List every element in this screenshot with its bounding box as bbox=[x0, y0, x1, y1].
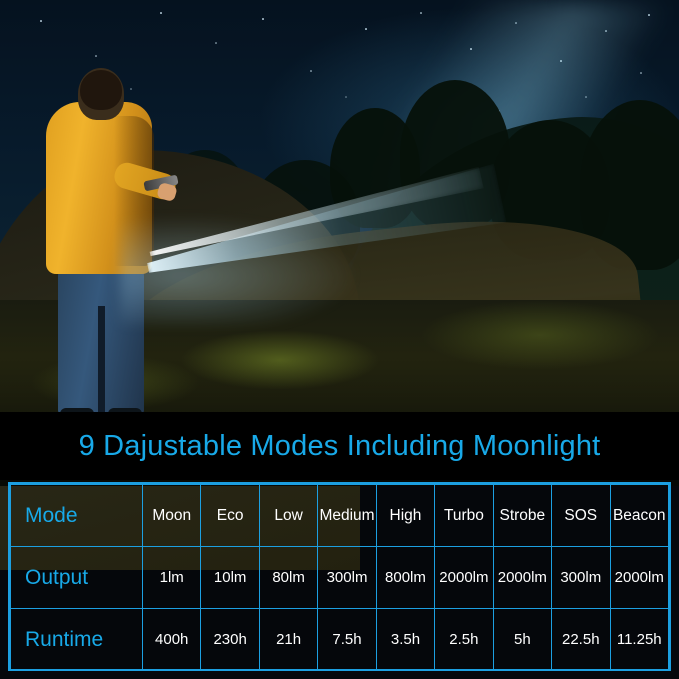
cell-runtime-7: 5h bbox=[493, 609, 551, 671]
row-label-runtime: Runtime bbox=[11, 609, 143, 671]
cell-output-2: 10lm bbox=[201, 547, 259, 609]
cell-runtime-9: 11.25h bbox=[610, 609, 669, 671]
person-leg-gap bbox=[98, 306, 105, 416]
cell-mode-3: Low bbox=[259, 485, 317, 547]
cell-mode-2: Eco bbox=[201, 485, 259, 547]
cell-output-4: 300lm bbox=[318, 547, 376, 609]
row-label-output: Output bbox=[11, 547, 143, 609]
cell-runtime-2: 230h bbox=[201, 609, 259, 671]
cell-runtime-8: 22.5h bbox=[552, 609, 610, 671]
cell-output-5: 800lm bbox=[376, 547, 434, 609]
cell-mode-5: High bbox=[376, 485, 434, 547]
row-label-mode: Mode bbox=[11, 485, 143, 547]
cell-mode-8: SOS bbox=[552, 485, 610, 547]
cell-runtime-6: 2.5h bbox=[435, 609, 493, 671]
cell-output-9: 2000lm bbox=[610, 547, 669, 609]
table-row-runtime: Runtime 400h 230h 21h 7.5h 3.5h 2.5h 5h … bbox=[11, 609, 669, 671]
specs-table: Mode Moon Eco Low Medium High Turbo Stro… bbox=[8, 482, 671, 671]
cell-runtime-4: 7.5h bbox=[318, 609, 376, 671]
cell-mode-6: Turbo bbox=[435, 485, 493, 547]
cell-output-3: 80lm bbox=[259, 547, 317, 609]
product-infographic: 9 Dajustable Modes Including Moonlight M… bbox=[0, 0, 679, 679]
cell-runtime-1: 400h bbox=[143, 609, 201, 671]
grass-highlight bbox=[180, 330, 380, 390]
table-row-mode: Mode Moon Eco Low Medium High Turbo Stro… bbox=[11, 485, 669, 547]
cell-mode-4: Medium bbox=[318, 485, 376, 547]
cell-output-6: 2000lm bbox=[435, 547, 493, 609]
headline-text: 9 Dajustable Modes Including Moonlight bbox=[79, 430, 601, 463]
cell-runtime-5: 3.5h bbox=[376, 609, 434, 671]
grass-highlight bbox=[420, 300, 660, 370]
cell-mode-1: Moon bbox=[143, 485, 201, 547]
cell-output-8: 300lm bbox=[552, 547, 610, 609]
cell-runtime-3: 21h bbox=[259, 609, 317, 671]
cell-mode-9: Beacon bbox=[610, 485, 669, 547]
cell-mode-7: Strobe bbox=[493, 485, 551, 547]
headline-band: 9 Dajustable Modes Including Moonlight bbox=[0, 412, 679, 480]
person-hair bbox=[80, 70, 122, 110]
cell-output-1: 1lm bbox=[143, 547, 201, 609]
table-row-output: Output 1lm 10lm 80lm 300lm 800lm 2000lm … bbox=[11, 547, 669, 609]
cell-output-7: 2000lm bbox=[493, 547, 551, 609]
